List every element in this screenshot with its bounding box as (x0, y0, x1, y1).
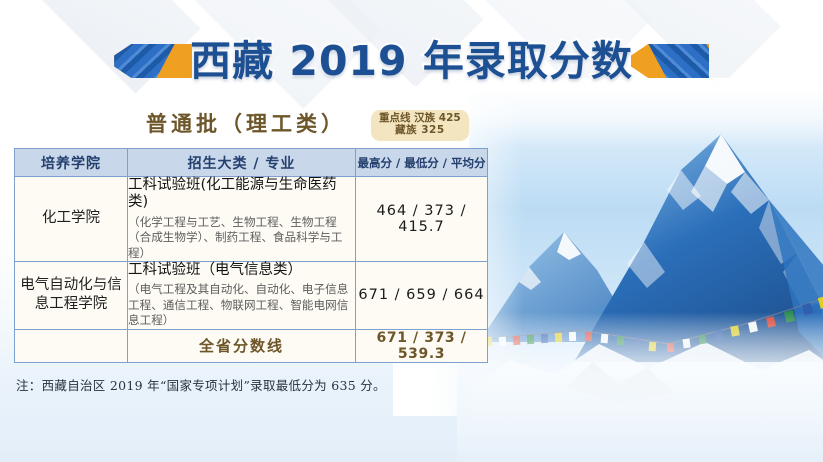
cell-college: 电气自动化与信息工程学院 (15, 262, 128, 330)
total-label: 全省分数线 (128, 329, 356, 362)
cell-scores: 671 / 659 / 664 (356, 262, 488, 330)
major-detail-list: （化学工程与工艺、生物工程、生物工程（合成生物学）、制药工程、食品科学与工程） (128, 215, 355, 261)
table-body: 化工学院 工科试验班(化工能源与生命医药类) （化学工程与工艺、生物工程、生物工… (15, 177, 488, 363)
total-scores: 671 / 373 / 539.3 (356, 329, 488, 362)
cell-major: 工科试验班(化工能源与生命医药类) （化学工程与工艺、生物工程、生物工程（合成生… (128, 177, 356, 262)
page-title: 西藏 2019 年录取分数 (184, 41, 639, 82)
title-banner: 西藏 2019 年录取分数 (0, 31, 823, 91)
column-header-scores: 最高分 / 最低分 / 平均分 (356, 149, 488, 177)
cutoff-line-han: 重点线 汉族 425 (379, 113, 461, 125)
major-name: 工科试验班（电气信息类） (128, 262, 355, 279)
snow-mountain-illustration (469, 92, 823, 422)
major-detail-list: （电气工程及其自动化、自动化、电子信息工程、通信工程、物联网工程、智能电网信息工… (128, 282, 355, 328)
cell-scores: 464 / 373 / 415.7 (356, 177, 488, 262)
score-table-block: 普通批（理工类） 重点线 汉族 425 藏族 325 培养学院 招生大类 / 专… (14, 106, 486, 363)
ribbon-left-decoration (114, 44, 192, 78)
footnote: 注：西藏自治区 2019 年“国家专项计划”录取最低分为 635 分。 (16, 375, 386, 394)
major-name: 工科试验班(化工能源与生命医药类) (128, 177, 355, 212)
admission-score-table: 培养学院 招生大类 / 专业 最高分 / 最低分 / 平均分 化工学院 工科试验… (14, 148, 488, 363)
cutoff-line-tibetan: 藏族 325 (379, 125, 461, 137)
cell-empty (15, 329, 128, 362)
ribbon-right-decoration (631, 44, 709, 78)
column-header-major: 招生大类 / 专业 (128, 149, 356, 177)
cell-major: 工科试验班（电气信息类） （电气工程及其自动化、自动化、电子信息工程、通信工程、… (128, 262, 356, 330)
section-header: 普通批（理工类） 重点线 汉族 425 藏族 325 (14, 106, 486, 148)
poster-canvas: 西藏 2019 年录取分数 普通批（理工类） 重点线 汉族 425 藏族 325… (0, 0, 823, 462)
table-total-row: 全省分数线 671 / 373 / 539.3 (15, 329, 488, 362)
batch-title: 普通批（理工类） (146, 108, 346, 138)
cutoff-line-badge: 重点线 汉族 425 藏族 325 (371, 110, 469, 141)
table-header-row: 培养学院 招生大类 / 专业 最高分 / 最低分 / 平均分 (15, 149, 488, 177)
table-header: 培养学院 招生大类 / 专业 最高分 / 最低分 / 平均分 (15, 149, 488, 177)
column-header-college: 培养学院 (15, 149, 128, 177)
table-row: 化工学院 工科试验班(化工能源与生命医药类) （化学工程与工艺、生物工程、生物工… (15, 177, 488, 262)
table-row: 电气自动化与信息工程学院 工科试验班（电气信息类） （电气工程及其自动化、自动化… (15, 262, 488, 330)
cell-college: 化工学院 (15, 177, 128, 262)
